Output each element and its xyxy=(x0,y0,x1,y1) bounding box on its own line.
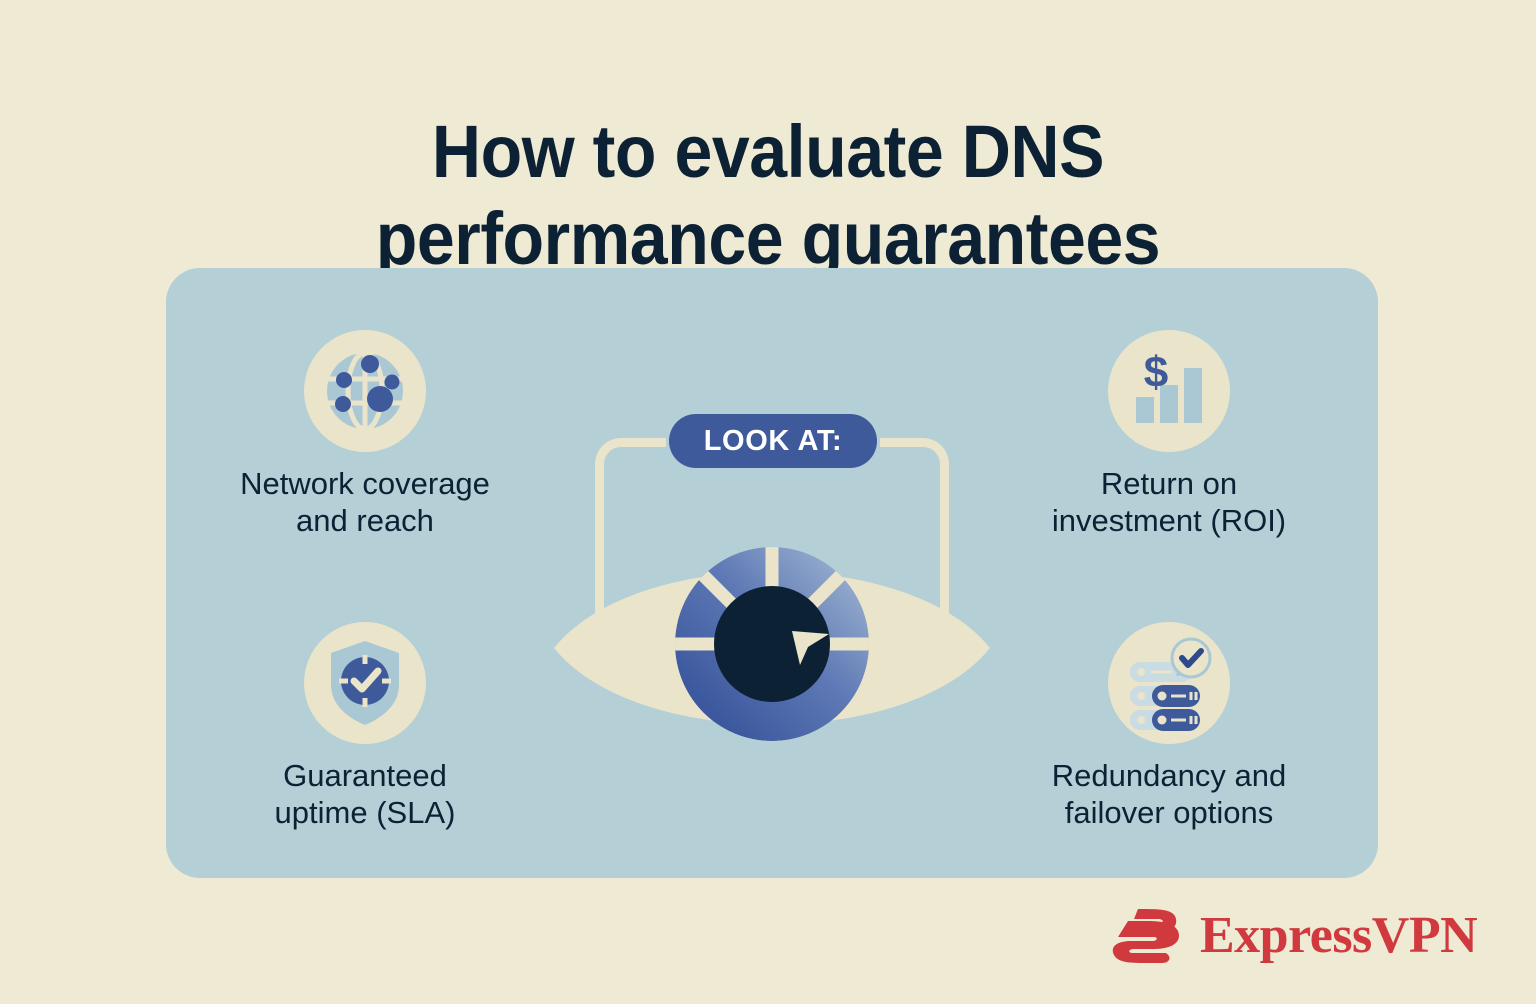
feature-return-on-investment: $ Return on investment (ROI) xyxy=(1004,330,1334,539)
server-stack-check-icon xyxy=(1108,622,1230,744)
look-at-badge: LOOK AT: xyxy=(669,414,877,468)
brand-name: ExpressVPN xyxy=(1200,910,1477,962)
feature-label: Guaranteed uptime (SLA) xyxy=(200,758,530,831)
shield-clock-check-icon xyxy=(304,622,426,744)
feature-redundancy-failover: Redundancy and failover options xyxy=(1004,622,1334,831)
feature-network-coverage: Network coverage and reach xyxy=(200,330,530,539)
center-stage: LOOK AT: xyxy=(588,414,958,754)
expressvpn-e-logo-icon xyxy=(1108,907,1184,965)
infographic-root: How to evaluate DNS performance guarante… xyxy=(0,0,1536,1004)
feature-label: Return on investment (ROI) xyxy=(1004,466,1334,539)
svg-text:$: $ xyxy=(1144,348,1168,397)
feature-guaranteed-uptime: Guaranteed uptime (SLA) xyxy=(200,622,530,831)
feature-label: Redundancy and failover options xyxy=(1004,758,1334,831)
page-title-line-1: How to evaluate DNS xyxy=(61,108,1474,195)
page-title: How to evaluate DNS performance guarante… xyxy=(61,108,1474,283)
feature-label: Network coverage and reach xyxy=(200,466,530,539)
globe-network-icon xyxy=(304,330,426,452)
dollar-bar-chart-icon: $ xyxy=(1108,330,1230,452)
eye-icon xyxy=(546,516,998,756)
expressvpn-logo: ExpressVPN xyxy=(1108,905,1477,967)
